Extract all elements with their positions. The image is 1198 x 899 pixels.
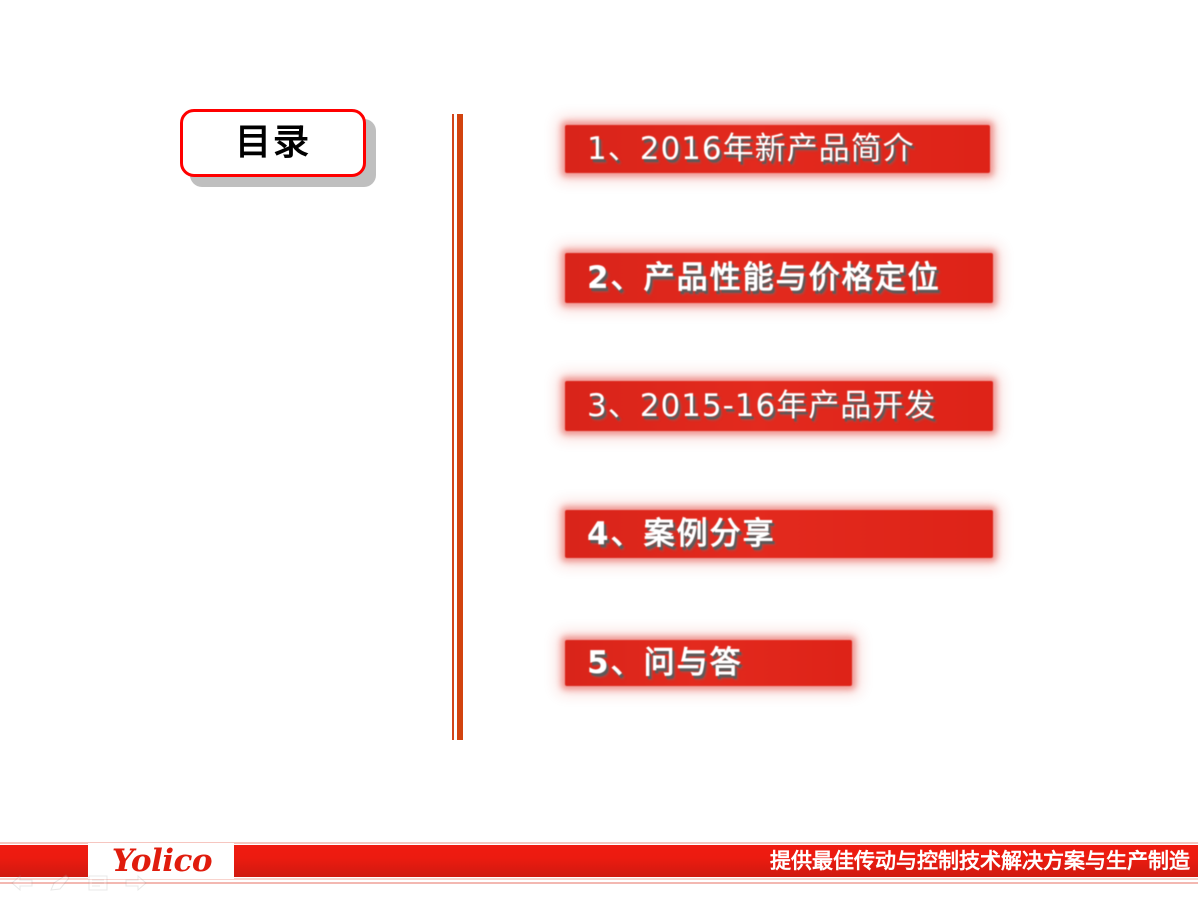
pen-tool-icon[interactable] bbox=[48, 873, 72, 893]
divider-thin-line bbox=[452, 114, 454, 740]
previous-slide-arrow-icon[interactable] bbox=[10, 873, 34, 893]
next-slide-arrow-icon[interactable] bbox=[124, 873, 148, 893]
footer-hairline-bottom-secondary bbox=[0, 882, 1198, 884]
agenda-item-1[interactable]: 1、2016年新产品简介 bbox=[565, 125, 990, 173]
toc-title-box: 目录 bbox=[180, 109, 376, 187]
footer-tagline-text: 提供最佳传动与控制技术解决方案与生产制造 bbox=[770, 851, 1190, 872]
agenda-item-4-label: 4、案例分享 bbox=[587, 519, 776, 550]
agenda-item-2[interactable]: 2、产品性能与价格定位 bbox=[565, 253, 993, 303]
agenda-item-4[interactable]: 4、案例分享 bbox=[565, 510, 993, 558]
page-title: 目录 bbox=[235, 125, 311, 161]
agenda-item-3[interactable]: 3、2015-16年产品开发 bbox=[565, 381, 993, 431]
vertical-divider bbox=[452, 114, 462, 740]
slide-footer: Yolico 提供最佳传动与控制技术解决方案与生产制造 bbox=[0, 837, 1198, 899]
footer-tagline: 提供最佳传动与控制技术解决方案与生产制造 bbox=[770, 846, 1190, 876]
presentation-nav-controls[interactable] bbox=[10, 871, 150, 895]
divider-thick-line bbox=[457, 114, 463, 740]
agenda-item-5[interactable]: 5、问与答 bbox=[565, 640, 852, 686]
slide-menu-icon[interactable] bbox=[86, 873, 110, 893]
agenda-item-2-label: 2、产品性能与价格定位 bbox=[587, 263, 941, 294]
agenda-item-3-label: 3、2015-16年产品开发 bbox=[587, 391, 936, 422]
slide-canvas: 目录 1、2016年新产品简介 2、产品性能与价格定位 3、2015-16年产品… bbox=[0, 0, 1198, 899]
toc-title-box-frame: 目录 bbox=[180, 109, 366, 177]
agenda-list: 1、2016年新产品简介 2、产品性能与价格定位 3、2015-16年产品开发 … bbox=[565, 110, 1035, 730]
agenda-item-1-label: 1、2016年新产品简介 bbox=[587, 134, 915, 165]
agenda-item-5-label: 5、问与答 bbox=[587, 648, 743, 679]
